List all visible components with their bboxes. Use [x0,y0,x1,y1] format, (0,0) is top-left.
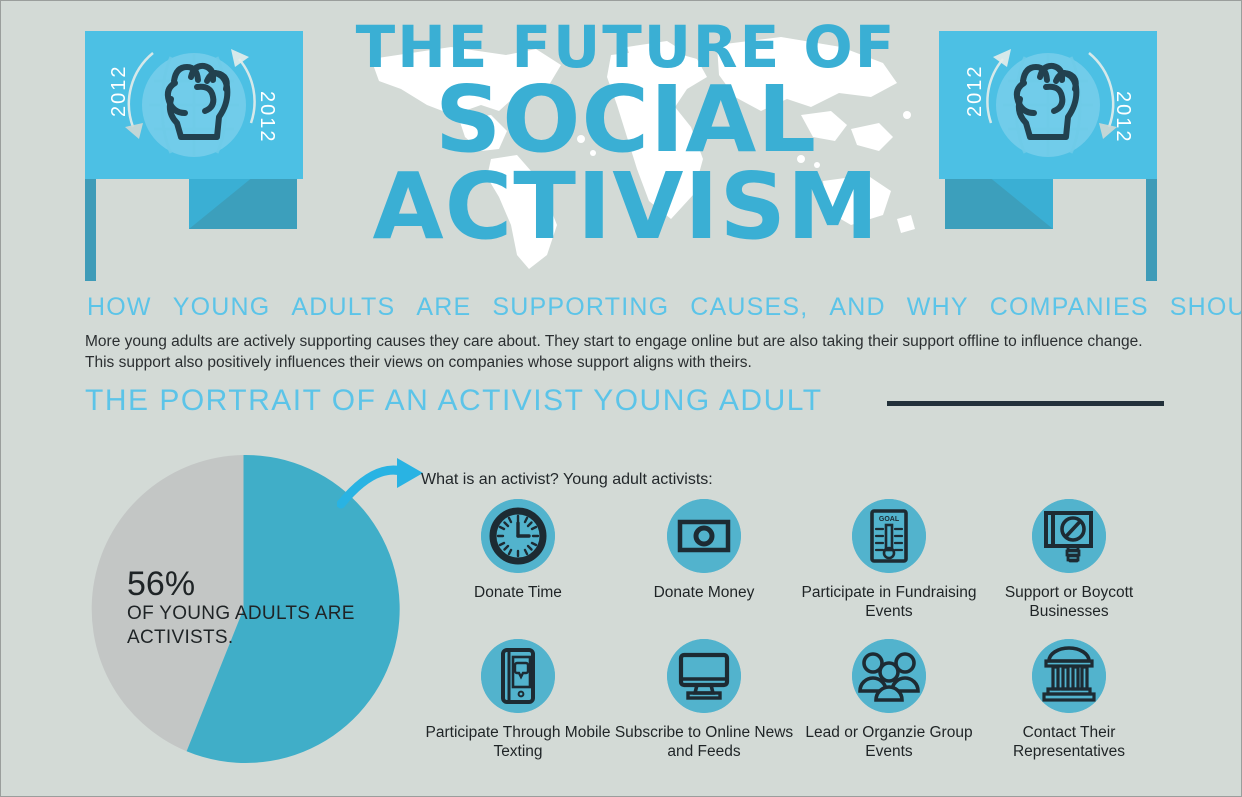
activity-label: Contact Their Representatives [974,723,1164,761]
activity-label: Donate Money [609,583,799,602]
activity-label: Participate in Fundraising Events [794,583,984,621]
thermometer-goal-icon: GOAL [852,499,926,573]
subhead-word: WHY [907,293,969,322]
activity-item-group-events[interactable]: Lead or Organzie Group Events [794,639,984,761]
subhead-word: SUPPORTING [492,293,669,322]
curved-arrow-icon [337,456,427,511]
title-line-2: SOCIAL [301,77,951,163]
activity-icon-grid: Donate Time Donate Money GOAL [419,499,1179,774]
flag-right-year-left: 2012 [964,65,986,118]
subhead-word: HOW [87,293,152,322]
mobile-phone-icon [481,639,555,713]
activity-label: Donate Time [423,583,613,602]
activist-question: What is an activist? Young adult activis… [421,471,713,489]
subhead-word: SHOULD [1170,293,1241,322]
monitor-icon [667,639,741,713]
activity-item-contact-representatives[interactable]: Contact Their Representatives [974,639,1164,761]
banknote-icon [667,499,741,573]
subhead-word: ADULTS [291,293,395,322]
flag-left-year-right: 2012 [256,91,278,144]
subhead-word: YOUNG [173,293,271,322]
subhead-word: AND [829,293,885,322]
activity-label: Support or Boycott Businesses [974,583,1164,621]
title-line-3: ACTIVISM [301,163,951,251]
activity-label: Subscribe to Online News and Feeds [609,723,799,761]
activity-label: Participate Through Mobile Texting [423,723,613,761]
activity-item-online-news[interactable]: Subscribe to Online News and Feeds [609,639,799,761]
section-heading: THE PORTRAIT OF AN ACTIVIST YOUNG ADULT [85,384,823,418]
subhead-word: ARE [416,293,471,322]
pie-sub-line-2: ACTIVISTS. [127,626,367,650]
activity-label: Lead or Organzie Group Events [794,723,984,761]
intro-paragraph: More young adults are actively supportin… [85,331,1145,373]
pie-percent: 56% [127,566,367,602]
activity-item-donate-money[interactable]: Donate Money [609,499,799,602]
subhead-word: CAUSES, [690,293,808,322]
subhead-word: COMPANIES [990,293,1149,322]
pie-callout: 56% OF YOUNG ADULTS ARE ACTIVISTS. [127,566,367,650]
subheadline: HOWYOUNGADULTSARESUPPORTINGCAUSES,ANDWHY… [87,293,1177,322]
pie-sub-line-1: OF YOUNG ADULTS ARE [127,602,367,626]
people-group-icon [852,639,926,713]
flag-right-year-right: 2012 [1112,91,1134,144]
header-section: 2012 2012 [1,1,1241,286]
activity-item-donate-time[interactable]: Donate Time [423,499,613,602]
activity-item-boycott[interactable]: Support or Boycott Businesses [974,499,1164,621]
clock-icon [481,499,555,573]
activity-item-mobile-texting[interactable]: Participate Through Mobile Texting [423,639,613,761]
infographic-canvas: 2012 2012 [1,1,1241,796]
activity-item-fundraising[interactable]: GOAL Participate in Fundraising Events [794,499,984,621]
fundraising-goal-badge: GOAL [879,516,900,523]
section-divider-rule [887,401,1164,406]
flag-left-year-left: 2012 [108,65,130,118]
protest-sign-icon [1032,499,1106,573]
government-building-icon [1032,639,1106,713]
page-title: THE FUTURE OF SOCIAL ACTIVISM [301,17,951,282]
